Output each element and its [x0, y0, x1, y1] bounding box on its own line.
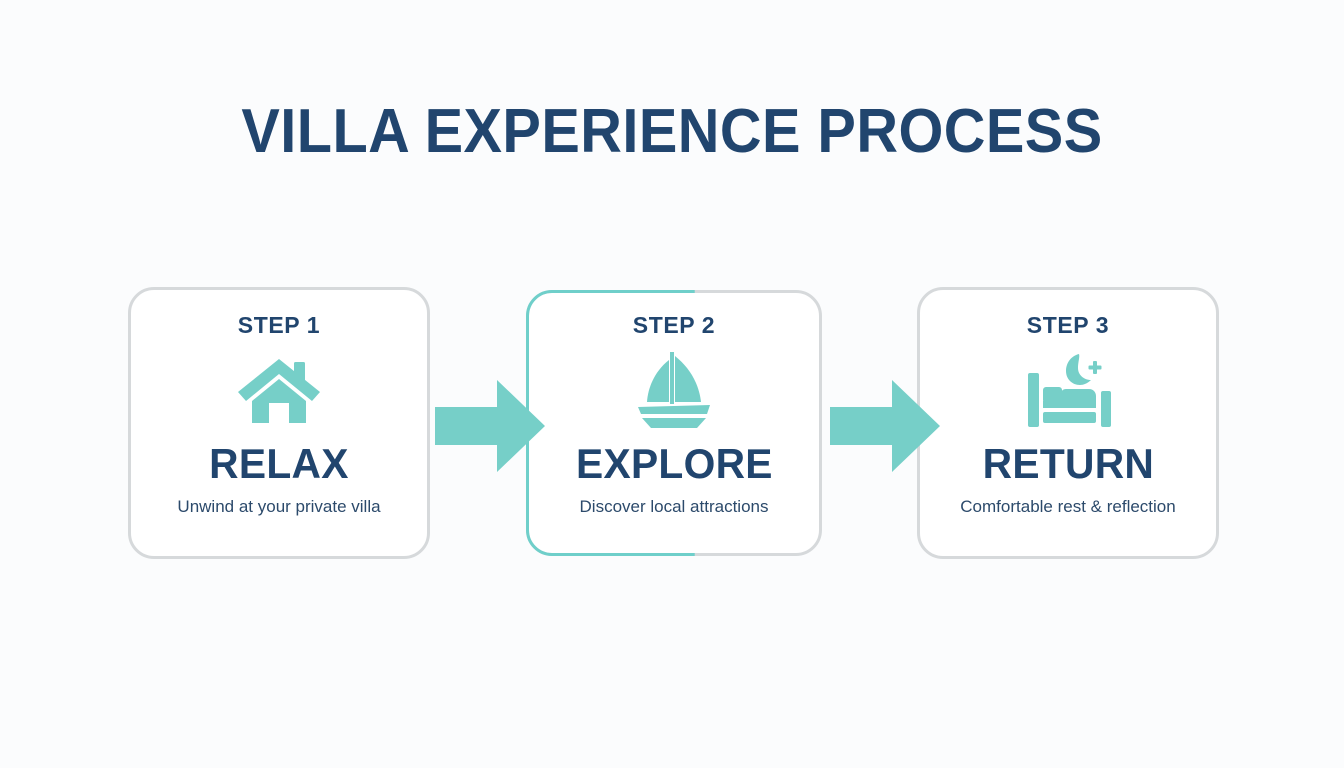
step-card-2-description: Discover local attractions — [580, 497, 769, 517]
step-card-1-title: RELAX — [209, 441, 349, 487]
page-title: VILLA EXPERIENCE PROCESS — [47, 95, 1297, 169]
arrow-step1-to-step2-icon — [435, 378, 545, 474]
step-card-2-step-label: STEP 2 — [633, 312, 715, 339]
step-card-2[interactable]: STEP 2 EXPLORE Discover local attraction… — [523, 287, 825, 559]
arrow-step2-to-step3-icon — [830, 378, 940, 474]
step-card-3-description: Comfortable rest & reflection — [960, 497, 1175, 517]
step-card-2-content: STEP 2 EXPLORE Discover local attraction… — [526, 290, 822, 556]
step-card-2-title: EXPLORE — [576, 441, 773, 487]
step-card-1-content: STEP 1 RELAX Unwind at your private vill… — [131, 290, 427, 556]
bed-moon-icon — [1022, 351, 1114, 429]
house-icon — [237, 351, 321, 429]
step-card-1[interactable]: STEP 1 RELAX Unwind at your private vill… — [128, 287, 430, 559]
step-card-1-description: Unwind at your private villa — [177, 497, 380, 517]
step-card-1-step-label: STEP 1 — [238, 312, 320, 339]
step-card-3[interactable]: STEP 3 — [917, 287, 1219, 559]
slide-canvas: VILLA EXPERIENCE PROCESS STEP 1 RELAX Un… — [0, 0, 1344, 768]
step-card-3-content: STEP 3 — [920, 290, 1216, 556]
sailboat-icon — [634, 351, 714, 429]
process-steps-row: STEP 1 RELAX Unwind at your private vill… — [128, 287, 1220, 559]
step-card-3-title: RETURN — [982, 441, 1153, 487]
step-card-3-step-label: STEP 3 — [1027, 312, 1109, 339]
